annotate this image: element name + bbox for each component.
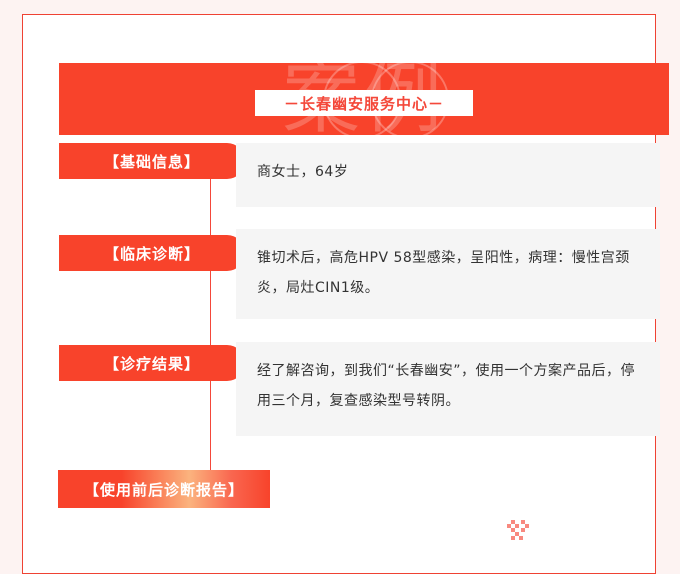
connector-line-3 [210, 381, 211, 471]
case-study-page: 案例 －长春幽安服务中心－ 【基础信息】 商女士，64岁 【临床诊断】 锥切术后… [0, 0, 680, 539]
section-label-basic-info: 【基础信息】 [59, 143, 245, 179]
page-title: －长春幽安服务中心－ [284, 93, 444, 114]
section-content-clinical-diagnosis: 锥切术后，高危HPV 58型感染，呈阳性，病理：慢性宫颈炎，局灶CIN1级。 [236, 229, 660, 319]
section-label-treatment-result: 【诊疗结果】 [59, 345, 245, 381]
section-content-basic-info: 商女士，64岁 [236, 143, 660, 207]
pixel-heart-icon [507, 520, 529, 541]
connector-line-2 [210, 271, 211, 345]
connector-line-1 [210, 179, 211, 235]
section-label-clinical-diagnosis: 【临床诊断】 [59, 235, 245, 271]
title-band: －长春幽安服务中心－ [255, 90, 473, 116]
section-content-treatment-result: 经了解咨询，到我们“长春幽安”，使用一个方案产品后，停用三个月，复查感染型号转阴… [236, 342, 660, 436]
header-banner: 案例 －长春幽安服务中心－ [59, 63, 669, 135]
section-label-diagnosis-report: 【使用前后诊断报告】 [58, 470, 270, 508]
case-card: 案例 －长春幽安服务中心－ 【基础信息】 商女士，64岁 【临床诊断】 锥切术后… [22, 14, 656, 574]
